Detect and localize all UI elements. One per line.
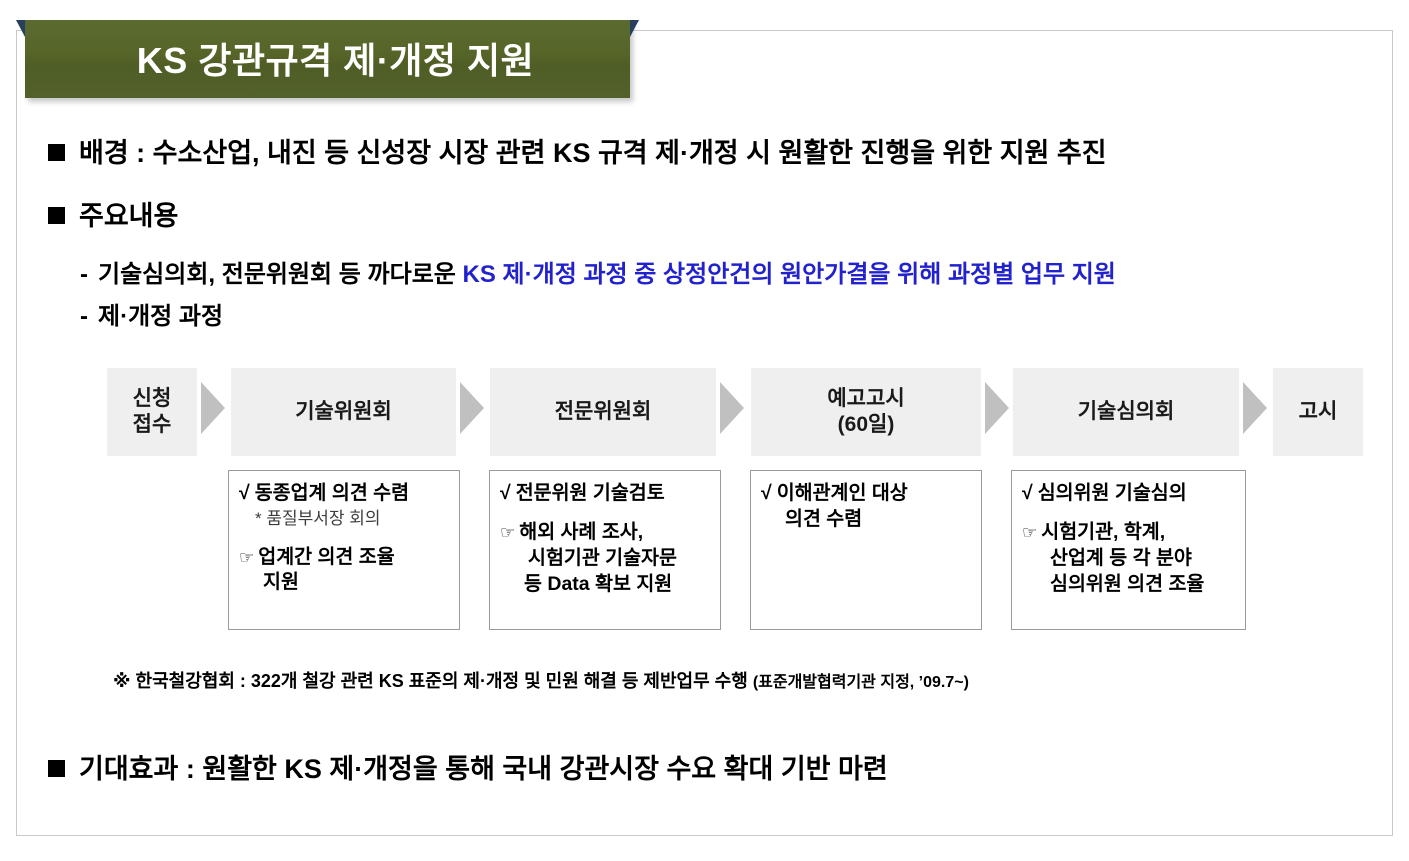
section-background: 배경 : 수소산업, 내진 등 신성장 시장 관련 KS 규격 제·개정 시 원… (48, 131, 1107, 170)
dash-marker: - (80, 261, 88, 288)
detail-box-4: √심의위원 기술심의 ☞시험기관, 학계, 산업계 등 각 분야 심의위원 의견… (1011, 470, 1246, 630)
main-item-1-black: 기술심의회, 전문위원회 등 까다로운 (98, 261, 456, 288)
detail-4-hand-line3: 심의위원 의견 조율 (1012, 572, 1245, 598)
flow-step-1-line1: 신청 (133, 387, 172, 410)
check-mark-icon: √ (239, 482, 250, 504)
detail-1-hand-text1: 업계간 의견 조율 (258, 546, 394, 568)
detail-4-check-line: √심의위원 기술심의 (1012, 481, 1245, 507)
detail-3-check-line2: 의견 수렴 (751, 507, 981, 533)
flow-step-4-line1: 예고고시 (827, 387, 904, 410)
footnote-paren-text: (표준개발협력기관 지정, ’09.7~) (753, 674, 969, 691)
title-banner: KS 강관규격 제·개정 지원 (25, 20, 630, 98)
section-main-heading: 주요내용 (48, 194, 178, 233)
check-mark-icon: √ (1022, 482, 1033, 504)
flow-step-4-label: 예고고시 (60일) (827, 386, 904, 437)
flow-step-2[interactable]: 기술위원회 (231, 368, 456, 456)
check-mark-icon: √ (500, 482, 511, 504)
detail-2-hand-line2: 시험기관 기술자문 (490, 546, 720, 572)
flow-step-2-label: 기술위원회 (295, 399, 392, 425)
square-bullet-icon (48, 144, 65, 161)
detail-2-hand-line3: 등 Data 확보 지원 (490, 572, 720, 598)
main-item-1: -기술심의회, 전문위원회 등 까다로운 KS 제·개정 과정 중 상정안건의 … (80, 254, 1116, 289)
main-item-1-blue: KS 제·개정 과정 중 상정안건의 원안가결을 위해 과정별 업무 지원 (463, 261, 1116, 288)
detail-1-sub-text: * 품질부서장 회의 (229, 507, 459, 532)
main-item-2-black: 제·개정 과정 (98, 303, 223, 330)
banner-notch-left-icon (16, 20, 25, 37)
square-bullet-icon (48, 207, 65, 224)
slide-root: KS 강관규격 제·개정 지원 배경 : 수소산업, 내진 등 신성장 시장 관… (0, 0, 1409, 861)
flow-step-3-label: 전문위원회 (555, 399, 652, 425)
detail-4-hand-line2: 산업계 등 각 분야 (1012, 546, 1245, 572)
flow-arrow-2-icon (460, 382, 484, 434)
section-background-text: 배경 : 수소산업, 내진 등 신성장 시장 관련 KS 규격 제·개정 시 원… (79, 138, 1107, 168)
pointing-hand-icon: ☞ (1022, 523, 1037, 542)
detail-2-check-text: 전문위원 기술검토 (516, 482, 665, 504)
flow-step-4[interactable]: 예고고시 (60일) (751, 368, 981, 456)
dash-marker: - (80, 303, 88, 330)
footnote: ※ 한국철강협회 : 322개 철강 관련 KS 표준의 제·개정 및 민원 해… (113, 667, 969, 693)
banner-notch-right-icon (630, 20, 639, 37)
flow-arrow-3-icon (720, 382, 744, 434)
pointing-hand-icon: ☞ (500, 523, 515, 542)
detail-4-check-text: 심의위원 기술심의 (1038, 482, 1187, 504)
detail-1-hand-line2: 지원 (229, 570, 459, 596)
detail-box-3: √이해관계인 대상 의견 수렴 (750, 470, 982, 630)
section-main-heading-text: 주요내용 (79, 201, 178, 231)
detail-3-check-line: √이해관계인 대상 (751, 481, 981, 507)
section-expected-effect-text: 기대효과 : 원활한 KS 제·개정을 통해 국내 강관시장 수요 확대 기반 … (79, 754, 888, 784)
flow-step-5[interactable]: 기술심의회 (1013, 368, 1239, 456)
pointing-hand-icon: ☞ (239, 548, 254, 567)
flow-step-1[interactable]: 신청 접수 (107, 368, 197, 456)
flow-arrow-4-icon (985, 382, 1009, 434)
detail-1-check-line: √동종업계 의견 수렴 (229, 481, 459, 507)
flow-arrow-5-icon (1243, 382, 1267, 434)
detail-4-hand-line1: ☞시험기관, 학계, (1012, 520, 1245, 546)
flow-step-1-line2: 접수 (133, 413, 172, 436)
detail-3-check-text: 이해관계인 대상 (777, 482, 908, 504)
page-title: KS 강관규격 제·개정 지원 (25, 32, 630, 84)
detail-2-check-line: √전문위원 기술검토 (490, 481, 720, 507)
section-expected-effect: 기대효과 : 원활한 KS 제·개정을 통해 국내 강관시장 수요 확대 기반 … (48, 747, 888, 786)
detail-box-2: √전문위원 기술검토 ☞해외 사례 조사, 시험기관 기술자문 등 Data 확… (489, 470, 721, 630)
check-mark-icon: √ (761, 482, 772, 504)
flow-step-5-label: 기술심의회 (1078, 399, 1175, 425)
detail-4-hand-text1: 시험기관, 학계, (1041, 521, 1165, 543)
flow-step-3[interactable]: 전문위원회 (490, 368, 716, 456)
footnote-main-text: 한국철강협회 : 322개 철강 관련 KS 표준의 제·개정 및 민원 해결 … (136, 671, 748, 691)
detail-1-check-text: 동종업계 의견 수렴 (255, 482, 409, 504)
square-bullet-icon (48, 760, 65, 777)
main-item-2: -제·개정 과정 (80, 296, 223, 331)
flow-step-6[interactable]: 고시 (1273, 368, 1363, 456)
detail-box-1: √동종업계 의견 수렴 * 품질부서장 회의 ☞업계간 의견 조율 지원 (228, 470, 460, 630)
flow-step-6-label: 고시 (1299, 399, 1338, 425)
detail-1-hand-line1: ☞업계간 의견 조율 (229, 545, 459, 571)
flow-step-4-line2: (60일) (838, 413, 895, 436)
detail-2-hand-line1: ☞해외 사례 조사, (490, 520, 720, 546)
flow-step-1-label: 신청 접수 (133, 386, 172, 437)
flow-arrow-1-icon (201, 382, 225, 434)
reference-mark-icon: ※ (113, 671, 131, 691)
detail-2-hand-text1: 해외 사례 조사, (519, 521, 643, 543)
